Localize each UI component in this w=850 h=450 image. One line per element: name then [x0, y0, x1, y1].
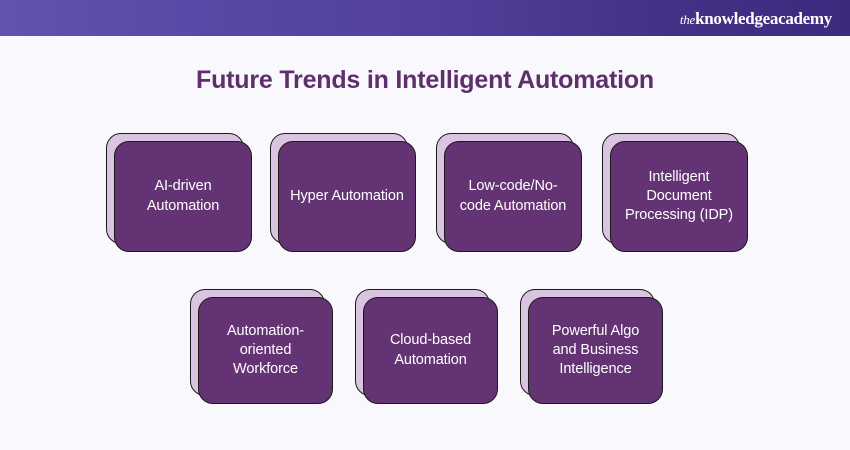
trends-board: AI-driven Automation Hyper Automation Lo… — [0, 0, 850, 450]
trend-card-automation-oriented-workforce[interactable]: Automation-oriented Workforce — [198, 297, 333, 404]
trend-card-label: Cloud-based Automation — [373, 331, 488, 369]
trend-card-intelligent-document-processing[interactable]: Intelligent Document Processing (IDP) — [610, 141, 748, 252]
trend-card-label: Powerful Algo and Business Intelligence — [538, 322, 653, 379]
trend-card-label: Intelligent Document Processing (IDP) — [620, 168, 738, 225]
trend-card-label: Hyper Automation — [288, 187, 406, 206]
trend-card-powerful-algo-business-intelligence[interactable]: Powerful Algo and Business Intelligence — [528, 297, 663, 404]
trend-card-label: AI-driven Automation — [124, 177, 242, 215]
trend-card-low-code-no-code-automation[interactable]: Low-code/No-code Automation — [444, 141, 582, 252]
trend-card-cloud-based-automation[interactable]: Cloud-based Automation — [363, 297, 498, 404]
trend-card-label: Automation-oriented Workforce — [208, 322, 323, 379]
trend-card-hyper-automation[interactable]: Hyper Automation — [278, 141, 416, 252]
trend-card-label: Low-code/No-code Automation — [454, 177, 572, 215]
trend-card-ai-driven-automation[interactable]: AI-driven Automation — [114, 141, 252, 252]
